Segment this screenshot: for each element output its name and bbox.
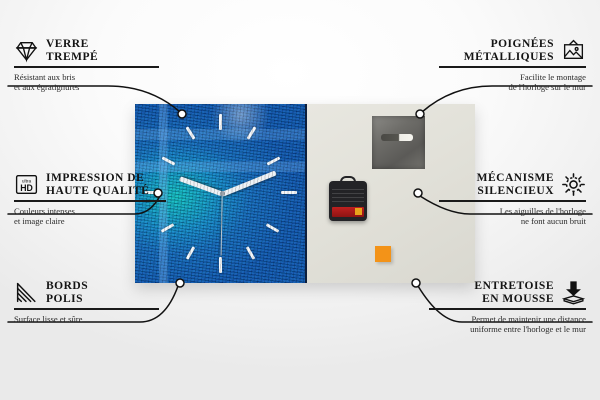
clock-tick bbox=[186, 126, 196, 139]
callout-impression-haute-qualite: ultra HD IMPRESSION DE HAUTE QUALITÉ Cou… bbox=[14, 172, 166, 227]
diagonal-lines-icon bbox=[14, 280, 39, 305]
callout-header: POIGNÉES MÉTALLIQUES bbox=[439, 38, 586, 63]
callout-header: ENTRETOISE EN MOUSSE bbox=[429, 280, 586, 305]
callout-description: Résistant aux bris et aux égratignures bbox=[14, 72, 159, 93]
divider bbox=[14, 66, 159, 68]
picture-frame-hook-icon bbox=[561, 38, 586, 63]
callout-header: VERRE TREMPÉ bbox=[14, 38, 159, 63]
mechanism-hook bbox=[340, 176, 356, 185]
callout-description: Permet de maintenir une distance uniform… bbox=[429, 314, 586, 335]
battery bbox=[332, 207, 364, 217]
callout-description: Les aiguilles de l'horloge ne font aucun… bbox=[439, 206, 586, 227]
callout-header: BORDS POLIS bbox=[14, 280, 159, 305]
divider bbox=[14, 308, 159, 310]
clock-tick bbox=[266, 223, 280, 233]
gear-icon bbox=[561, 172, 586, 197]
down-arrow-stack-icon bbox=[561, 280, 586, 305]
callout-description: Surface lisse et sûre bbox=[14, 314, 159, 325]
callout-poignees-metalliques: POIGNÉES MÉTALLIQUES Facilite le montage… bbox=[439, 38, 586, 93]
callout-title: VERRE TREMPÉ bbox=[46, 38, 98, 63]
callout-verre-trempe: VERRE TREMPÉ Résistant aux bris et aux é… bbox=[14, 38, 159, 93]
divider bbox=[439, 200, 586, 202]
callout-entretoise-en-mousse: ENTRETOISE EN MOUSSE Permet de maintenir… bbox=[429, 280, 586, 335]
clock-tick bbox=[246, 246, 256, 260]
clock-hour-hand bbox=[179, 177, 223, 197]
callout-header: MÉCANISME SILENCIEUX bbox=[439, 172, 586, 197]
clock-tick bbox=[281, 191, 297, 194]
product-feature-infographic: VERRE TREMPÉ Résistant aux bris et aux é… bbox=[0, 0, 600, 400]
callout-bords-polis: BORDS POLIS Surface lisse et sûre bbox=[14, 280, 159, 324]
clock-tick bbox=[219, 114, 222, 130]
foam-spacer bbox=[375, 246, 391, 262]
clock-tick bbox=[247, 126, 257, 139]
clock-tick bbox=[219, 257, 222, 273]
callout-header: ultra HD IMPRESSION DE HAUTE QUALITÉ bbox=[14, 172, 166, 197]
ultra-hd-icon: ultra HD bbox=[14, 172, 39, 197]
svg-text:HD: HD bbox=[20, 183, 33, 193]
callout-title: IMPRESSION DE HAUTE QUALITÉ bbox=[46, 172, 149, 197]
clock-tick bbox=[267, 156, 281, 165]
clock-tick bbox=[186, 246, 196, 260]
callout-description: Facilite le montage de l'horloge sur le … bbox=[439, 72, 586, 93]
clock-mechanism bbox=[329, 181, 367, 221]
callout-title: MÉCANISME SILENCIEUX bbox=[477, 172, 554, 197]
divider bbox=[439, 66, 586, 68]
product-image bbox=[135, 104, 475, 283]
clock-minute-hand bbox=[221, 170, 276, 196]
clock-center-pin bbox=[220, 191, 225, 196]
divider bbox=[429, 308, 586, 310]
battery-plus-terminal bbox=[355, 208, 362, 215]
callout-mecanisme-silencieux: MÉCANISME SILENCIEUX Les aiguilles de l'… bbox=[439, 172, 586, 227]
callout-title: BORDS POLIS bbox=[46, 280, 88, 305]
metal-hanger-plate bbox=[372, 116, 425, 169]
callout-title: ENTRETOISE EN MOUSSE bbox=[474, 280, 554, 305]
hanger-slot bbox=[381, 134, 413, 141]
diamond-icon bbox=[14, 38, 39, 63]
callout-description: Couleurs intenses et image claire bbox=[14, 206, 166, 227]
callout-title: POIGNÉES MÉTALLIQUES bbox=[464, 38, 554, 63]
clock-tick bbox=[162, 156, 176, 165]
mechanism-label bbox=[332, 188, 364, 202]
clock-second-hand bbox=[220, 194, 222, 256]
divider bbox=[14, 200, 166, 202]
